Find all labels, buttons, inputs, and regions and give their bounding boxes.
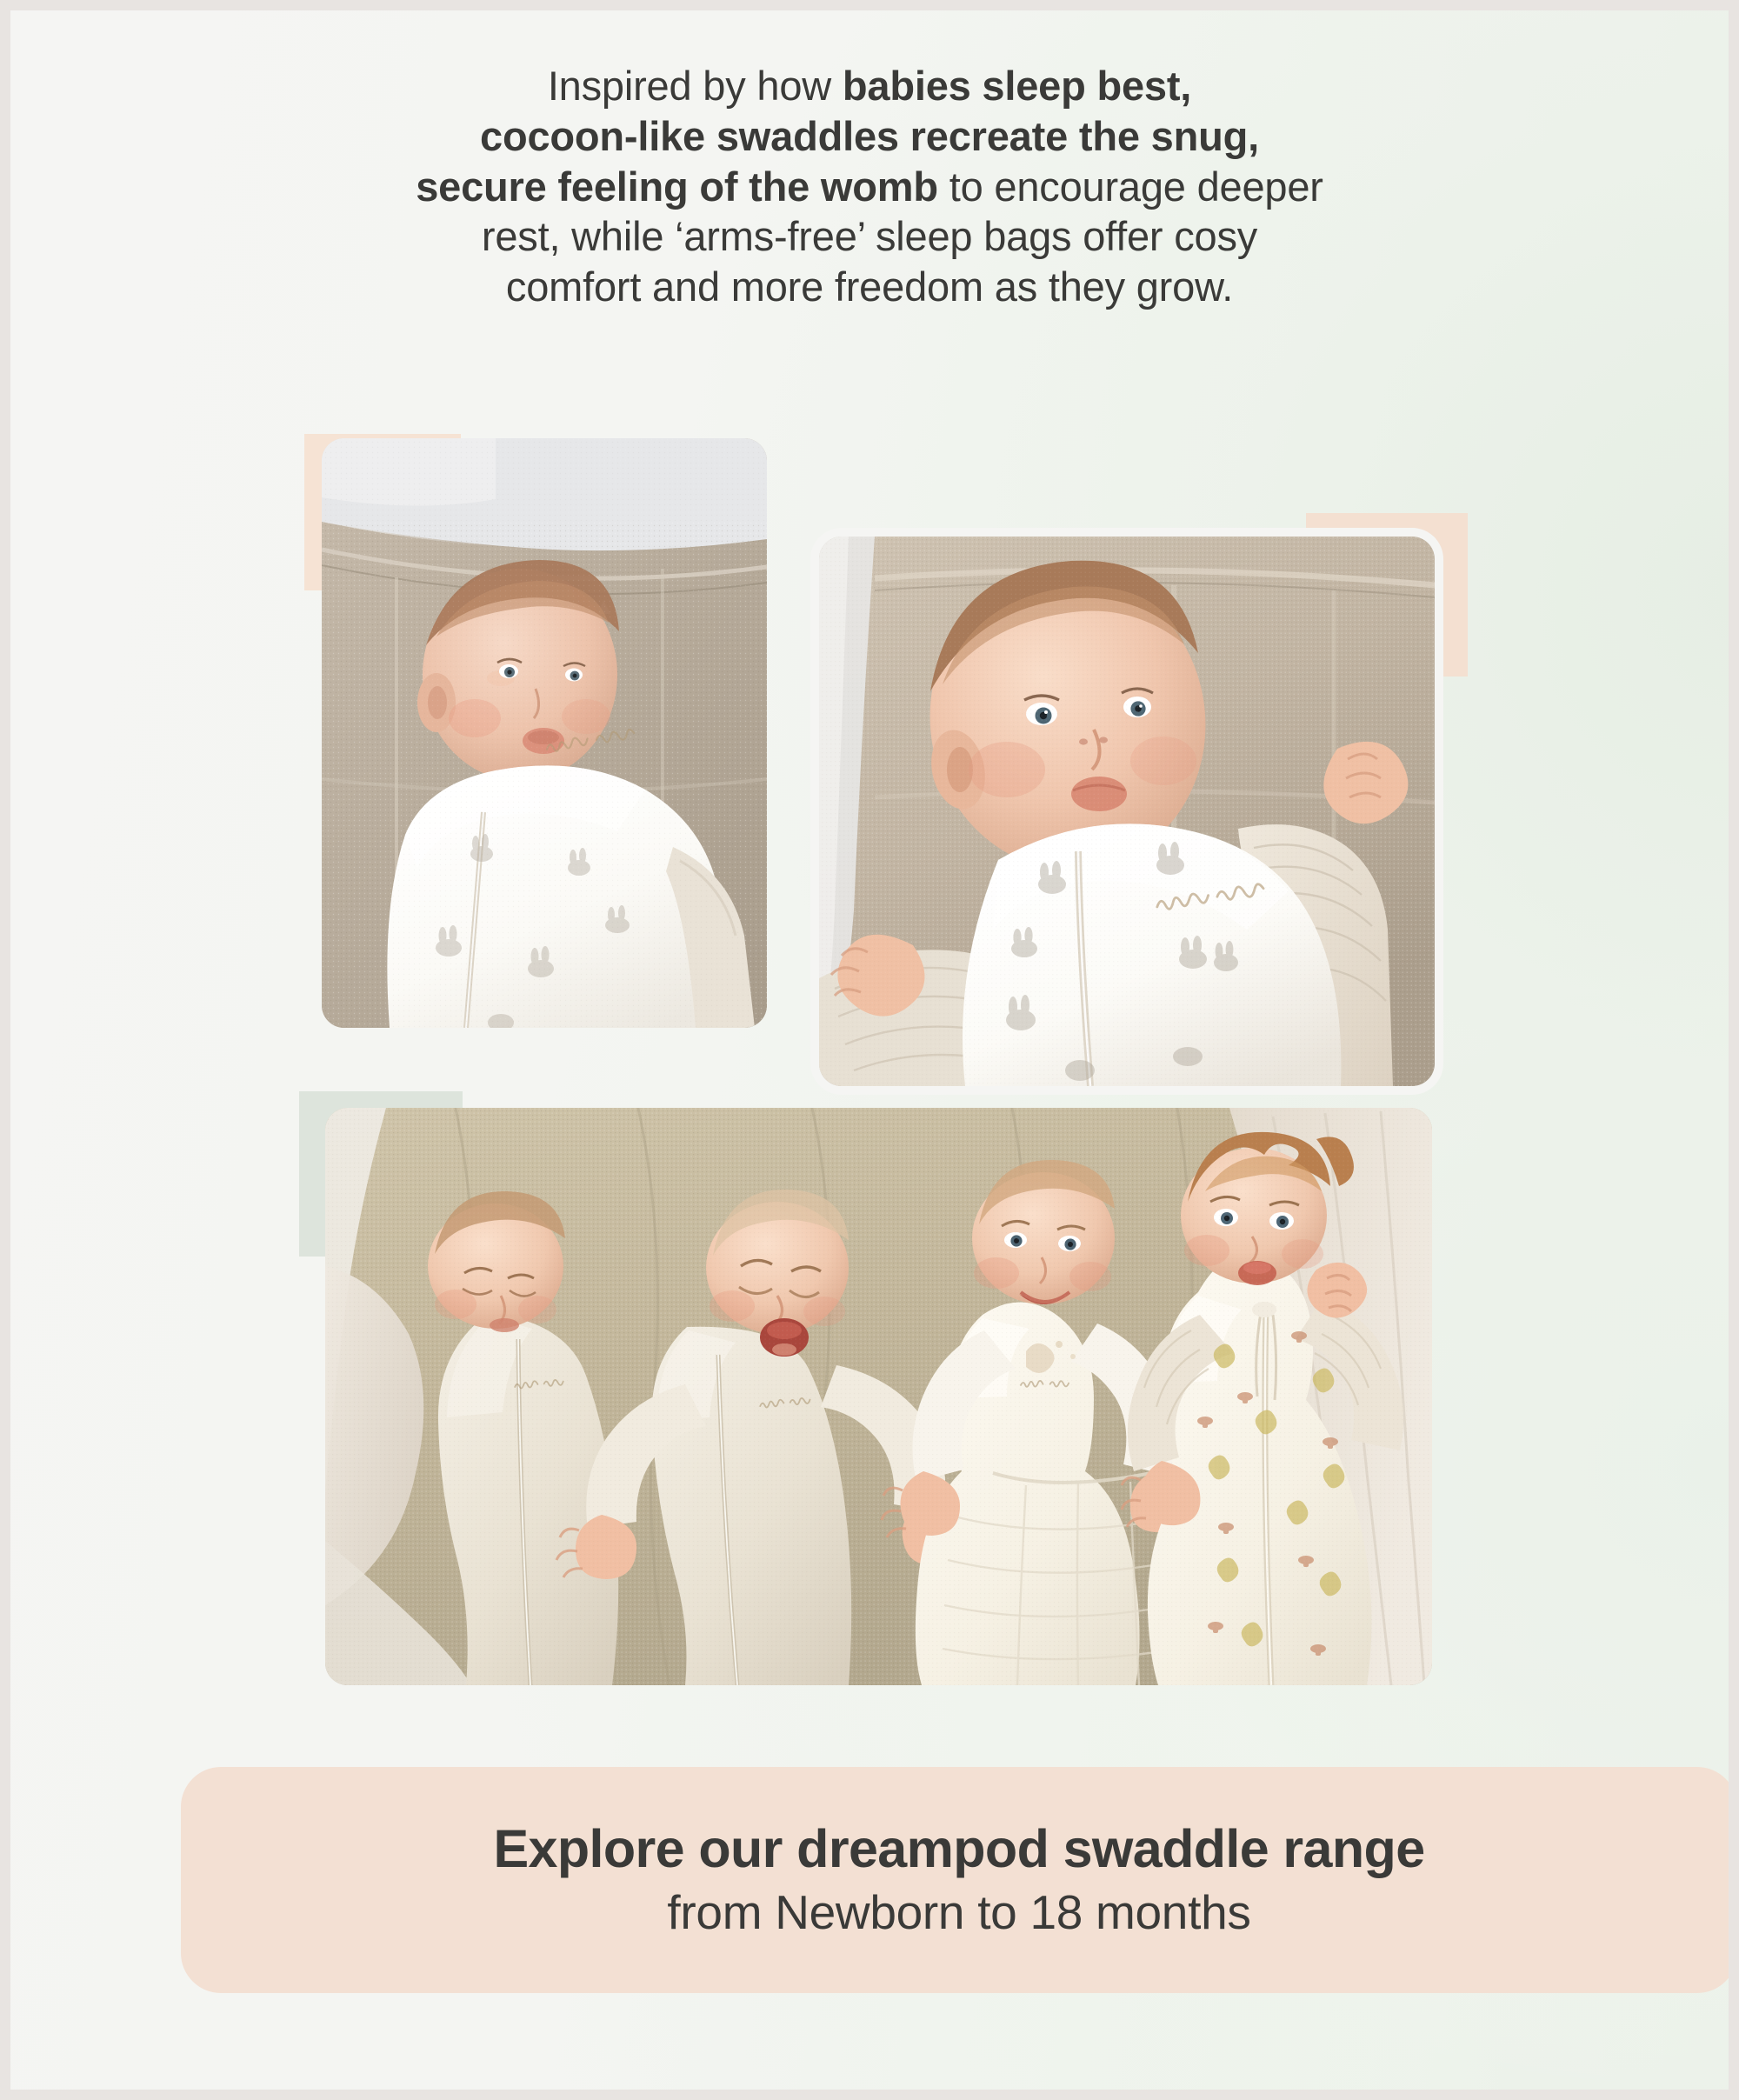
intro-line-1-plain: Inspired by how	[548, 63, 843, 109]
photo-3-artwork	[325, 1108, 1432, 1685]
cta-subline: from Newborn to 18 months	[667, 1883, 1250, 1941]
intro-line-2-bold: cocoon-like swaddles recreate the snug,	[480, 113, 1259, 159]
intro-line-4: rest, while ‘arms-free’ sleep bags offer…	[10, 211, 1729, 262]
cta-headline: Explore our dreampod swaddle range	[493, 1819, 1424, 1878]
photo-newborn-swaddle-1	[322, 438, 767, 1028]
page-canvas: Inspired by how babies sleep best, cocoo…	[10, 10, 1729, 2090]
intro-line-1-bold: babies sleep best,	[843, 63, 1191, 109]
intro-line-2: cocoon-like swaddles recreate the snug,	[10, 111, 1729, 162]
intro-line-3-plain: to encourage deeper	[938, 163, 1323, 210]
cta-banner[interactable]: Explore our dreampod swaddle range from …	[181, 1767, 1729, 1993]
intro-line-1: Inspired by how babies sleep best,	[10, 61, 1729, 111]
intro-paragraph: Inspired by how babies sleep best, cocoo…	[10, 61, 1729, 312]
photo-four-babies-range	[325, 1108, 1432, 1685]
photo-newborn-swaddle-2	[819, 537, 1435, 1086]
intro-line-5: comfort and more freedom as they grow.	[10, 262, 1729, 312]
photo-1-artwork	[322, 438, 767, 1028]
photo-2-artwork	[819, 537, 1435, 1086]
intro-line-3: secure feeling of the womb to encourage …	[10, 162, 1729, 212]
intro-line-3-bold: secure feeling of the womb	[416, 163, 938, 210]
